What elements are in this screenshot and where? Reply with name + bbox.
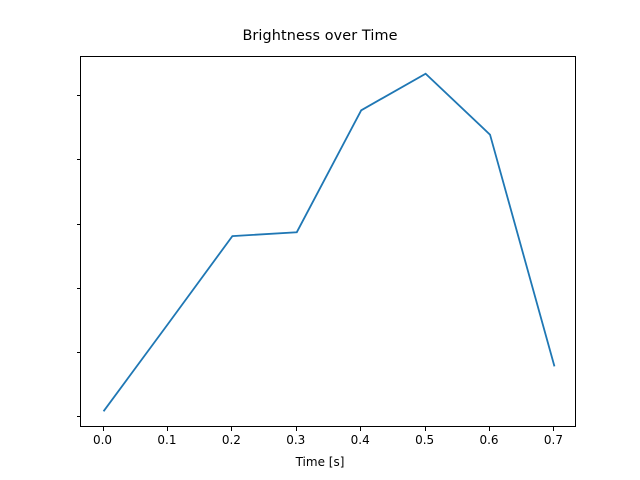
x-tick-label: 0.1 (137, 433, 197, 447)
plot-area (80, 56, 576, 427)
x-tick-label: 0.3 (266, 433, 326, 447)
matplotlib-figure: Brightness over Time Brightness Time [s]… (0, 0, 640, 480)
x-tick-label: 0.7 (523, 433, 583, 447)
x-axis-label: Time [s] (0, 455, 640, 469)
x-tick-label: 0.0 (73, 433, 133, 447)
line-series-svg (81, 57, 577, 428)
x-tick-label: 0.5 (395, 433, 455, 447)
x-tick-label: 0.2 (201, 433, 261, 447)
brightness-line-series (104, 74, 555, 412)
chart-title: Brightness over Time (0, 28, 640, 44)
x-tick-label: 0.6 (459, 433, 519, 447)
x-tick-label: 0.4 (330, 433, 390, 447)
